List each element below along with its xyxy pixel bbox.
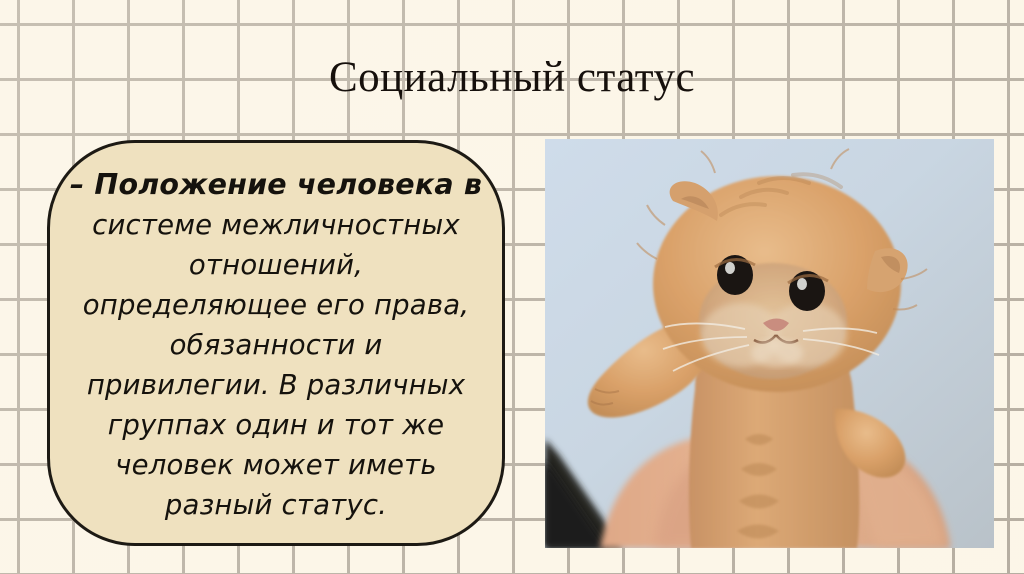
definition-line-5: обязанности и	[64, 325, 488, 365]
definition-line-2: системе межличностных	[64, 205, 488, 245]
definition-text: – Положение человека в системе межличнос…	[64, 165, 488, 525]
definition-line-6: привилегии. В различных	[64, 365, 488, 405]
definition-line-9: разный статус.	[64, 485, 488, 525]
slide: Социальный статус – Положение человека в…	[0, 0, 1024, 574]
kitten-photo-illustration	[545, 139, 994, 548]
definition-callout: – Положение человека в системе межличнос…	[47, 140, 505, 546]
definition-line-8: человек может иметь	[64, 445, 488, 485]
definition-line-1: – Положение человека в	[64, 165, 488, 205]
kitten-photo	[545, 139, 994, 548]
definition-line-3: отношений,	[64, 245, 488, 285]
definition-line-4: определяющее его права,	[64, 285, 488, 325]
page-title: Социальный статус	[0, 52, 1024, 104]
definition-line-7: группах один и тот же	[64, 405, 488, 445]
